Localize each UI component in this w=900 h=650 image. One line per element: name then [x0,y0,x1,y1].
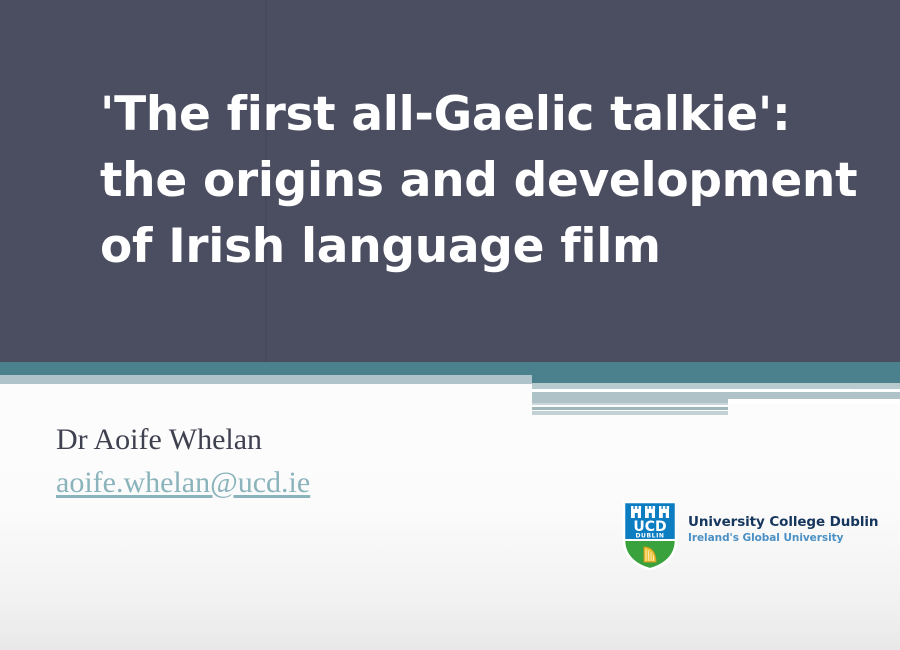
ucd-shield-icon: UCD DUBLIN [622,500,678,570]
author-name: Dr Aoife Whelan [56,420,576,460]
band-stripe-5 [532,403,728,405]
title-line-1: 'The first all-Gaelic talkie': [100,82,860,148]
title-line-2: the origins and development [100,148,860,214]
band-stripe-pale-left [0,375,532,384]
band-stripe-4 [728,399,900,404]
decorative-band [0,362,900,422]
band-stripe-teal-left [0,362,532,375]
page-title: 'The first all-Gaelic talkie': the origi… [100,82,860,280]
band-stripe-6 [532,407,728,410]
ucd-logo: UCD DUBLIN [622,500,837,572]
svg-text:DUBLIN: DUBLIN [635,533,664,540]
ucd-logo-tagline: Ireland's Global University [688,531,838,545]
band-stripe-7 [532,411,728,415]
band-stripe-teal-right [532,362,900,383]
title-slide: 'The first all-Gaelic talkie': the origi… [0,0,900,650]
author-email-link[interactable]: aoife.whelan@ucd.ie [56,463,310,503]
title-line-3: of Irish language film [100,214,860,280]
author-block: Dr Aoife Whelan aoife.whelan@ucd.ie [56,420,576,503]
ucd-logo-name: University College Dublin [688,514,838,531]
ucd-wordmark: University College Dublin Ireland's Glob… [688,514,838,545]
